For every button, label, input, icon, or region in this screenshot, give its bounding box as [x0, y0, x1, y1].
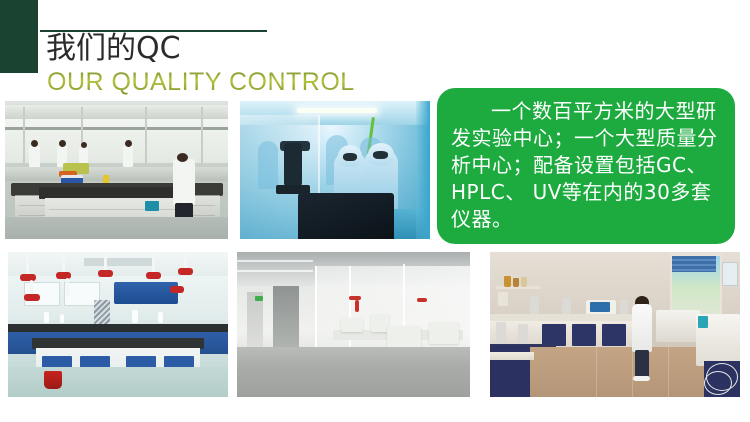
lab3-extraction-arm-joint	[24, 294, 40, 301]
lab3-glassware	[60, 314, 64, 323]
lab5-large-instrument	[656, 310, 700, 342]
corridor-ceiling-line	[237, 270, 313, 272]
photo-lab-white-benches	[5, 101, 228, 239]
corridor-door	[273, 286, 299, 356]
corridor-inner-instrument	[341, 318, 363, 332]
lab3-glassware	[132, 310, 138, 323]
lab5-reagent-bottle	[521, 277, 527, 287]
lab1-foreground-worker-head	[177, 153, 188, 162]
qc-description-text: 一个数百平方米的大型研发实验中心；一个大型质量分析中心；配备设置包括GC、 HP…	[451, 98, 721, 233]
photo-2-scene	[240, 101, 430, 239]
lab1-support-pole	[145, 107, 147, 167]
page-title-english: OUR QUALITY CONTROL	[47, 68, 355, 96]
lab5-blue-cabinet	[542, 324, 566, 346]
lab3-extraction-arm	[26, 254, 29, 276]
lab1-stool	[145, 201, 159, 211]
corridor-red-arm	[355, 300, 359, 312]
corridor-floor	[237, 347, 470, 397]
lab5-reagent-bottle	[504, 276, 511, 287]
lab1-drawer-line	[49, 209, 179, 210]
photo-4-scene	[237, 252, 470, 397]
lab1-support-pole	[23, 107, 25, 167]
lab1-worker-head	[125, 140, 132, 147]
lab5-reagent-bottle	[513, 278, 519, 287]
lab3-extraction-arm-joint	[178, 268, 193, 275]
lab5-foreground-bench-edge	[490, 352, 534, 360]
cleanroom-monitor	[298, 193, 394, 239]
lab5-window-blind	[672, 256, 716, 272]
photo-instrument-lab-technician	[490, 252, 740, 397]
cleanroom-right-wall	[416, 101, 430, 239]
lab1-floor	[5, 217, 228, 239]
lab3-blue-fume-hood	[114, 282, 178, 304]
qc-description-callout: 一个数百平方米的大型研发实验中心；一个大型质量分析中心；配备设置包括GC、 HP…	[437, 88, 735, 244]
photo-lab-blue-cabinets	[8, 252, 228, 397]
lab3-extraction-arm-joint	[170, 286, 184, 293]
photo-5-scene	[490, 252, 740, 397]
corridor-red-arm	[417, 298, 427, 302]
lab3-glassware	[44, 312, 49, 323]
lab3-back-bench-top	[8, 324, 228, 332]
lab5-blue-cabinet	[602, 324, 626, 346]
lab1-support-pole	[201, 107, 203, 167]
lab5-technician-legs	[635, 350, 649, 378]
cleanroom-technician-goggles	[343, 153, 357, 161]
lab3-extraction-arm-joint	[98, 270, 113, 277]
cleanroom-microscope-body	[284, 143, 302, 187]
lab5-floor-tile	[596, 347, 633, 397]
header-accent-block	[0, 0, 38, 73]
lab3-extraction-arm	[62, 254, 65, 274]
corridor-inner-instrument	[429, 322, 459, 344]
lab1-worker-head	[31, 140, 38, 147]
lab5-microscope	[518, 324, 528, 344]
lab1-foreground-worker-coat	[173, 159, 195, 205]
lab5-reagent-bottle	[498, 292, 508, 306]
lab3-extraction-arm	[152, 254, 155, 274]
lab3-extraction-arm-joint	[146, 272, 161, 279]
lab1-worker-coat	[29, 145, 40, 167]
lab1-worker-head	[59, 140, 66, 147]
lab3-extraction-arm-joint	[20, 274, 36, 281]
lab1-worker-head	[81, 142, 87, 148]
lab5-back-bench-top	[490, 314, 636, 321]
lab3-floor	[8, 367, 228, 397]
lab1-worker-coat	[123, 145, 133, 167]
exit-sign-icon	[255, 296, 263, 301]
lab5-microscope	[496, 322, 506, 344]
lab5-technician-coat	[632, 304, 652, 352]
photo-cleanroom-blue-suits	[240, 101, 430, 239]
lab5-wall-poster	[722, 262, 738, 286]
photo-1-scene	[5, 101, 228, 239]
lab3-red-bucket	[44, 371, 62, 389]
photo-corridor-glass-wall	[237, 252, 470, 397]
cleanroom-technician-goggles	[373, 151, 388, 159]
page-title-chinese: 我们的QC	[46, 31, 181, 67]
lab5-analyzer-screen	[590, 302, 610, 312]
lab5-technician-shoes	[633, 376, 650, 381]
lab3-glassware	[158, 312, 163, 323]
photo-3-scene	[8, 252, 228, 397]
cleanroom-light-strip	[297, 108, 377, 113]
lab1-shelf-rail	[5, 127, 228, 130]
lab5-cable-coil	[704, 371, 732, 395]
lab5-microscope	[530, 296, 539, 316]
corridor-ceiling-line	[237, 260, 313, 262]
lab5-blue-cabinet	[572, 324, 596, 346]
cleanroom-background-worker	[258, 141, 278, 189]
lab3-ceiling-duct	[84, 258, 154, 266]
lab5-instrument-panel	[698, 316, 708, 328]
lab3-extraction-arm	[66, 278, 69, 296]
lab5-floor-tile	[560, 347, 597, 397]
